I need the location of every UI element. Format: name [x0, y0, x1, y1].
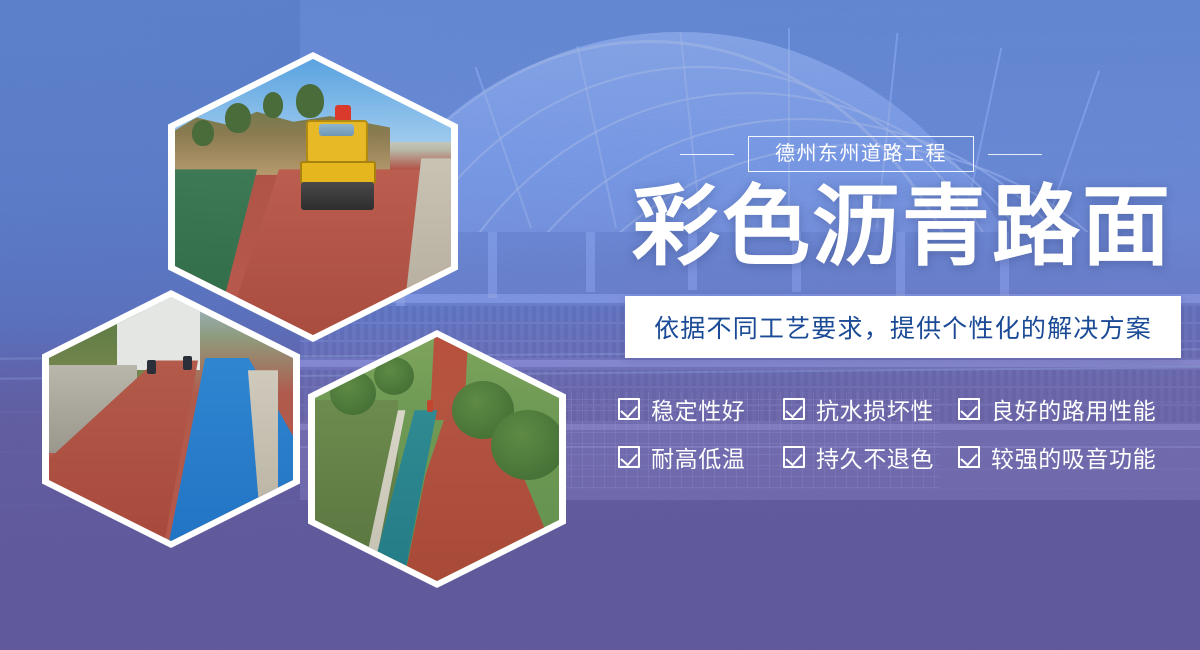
check-icon: [958, 446, 980, 468]
feature-label: 耐高低温: [651, 440, 745, 474]
hexagon-photo-cluster: [0, 0, 620, 650]
banner-content: 德州东州道路工程 彩色沥青路面 依据不同工艺要求，提供个性化的解决方案 稳定性好…: [604, 0, 1200, 650]
badge-rule-right-icon: [988, 154, 1042, 155]
check-icon: [783, 398, 805, 420]
badge-rule-left-icon: [680, 154, 734, 155]
feature-item: 耐高低温: [618, 440, 783, 474]
feature-item: 较强的吸音功能: [958, 440, 1168, 474]
promo-banner: 德州东州道路工程 彩色沥青路面 依据不同工艺要求，提供个性化的解决方案 稳定性好…: [0, 0, 1200, 650]
page-title: 彩色沥青路面: [632, 183, 1172, 271]
feature-list: 稳定性好 抗水损坏性 良好的路用性能 耐高低温 持久不退色 较强的吸音功能: [618, 392, 1188, 474]
hex-photo-greenway[interactable]: [308, 330, 566, 588]
company-name: 德州东州道路工程: [748, 136, 974, 172]
hex-photo-road-roller[interactable]: [168, 52, 458, 342]
photo-road-roller-on-red-and-green-asphalt: [175, 59, 451, 335]
feature-label: 持久不退色: [816, 440, 934, 474]
feature-label: 良好的路用性能: [991, 392, 1156, 426]
check-icon: [618, 398, 640, 420]
photo-greenway-with-red-and-teal-paths: [315, 337, 559, 581]
subtitle-panel: 依据不同工艺要求，提供个性化的解决方案: [625, 296, 1181, 358]
check-icon: [958, 398, 980, 420]
feature-item: 持久不退色: [783, 440, 958, 474]
check-icon: [783, 446, 805, 468]
road-roller-icon: [296, 120, 379, 214]
check-icon: [618, 446, 640, 468]
feature-item: 良好的路用性能: [958, 392, 1168, 426]
feature-item: 抗水损坏性: [783, 392, 958, 426]
hex-photo-red-blue-road[interactable]: [42, 290, 300, 548]
feature-label: 稳定性好: [651, 392, 745, 426]
subtitle-text: 依据不同工艺要求，提供个性化的解决方案: [654, 309, 1152, 345]
feature-label: 较强的吸音功能: [991, 440, 1156, 474]
photo-red-and-blue-colored-road: [49, 297, 293, 541]
feature-item: 稳定性好: [618, 392, 783, 426]
brand-badge: 德州东州道路工程: [680, 130, 1172, 178]
feature-label: 抗水损坏性: [816, 392, 934, 426]
